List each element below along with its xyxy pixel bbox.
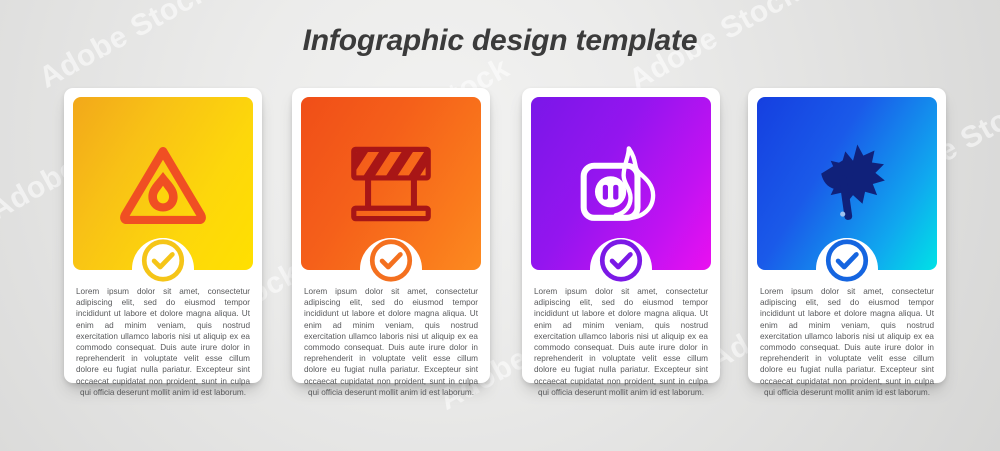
infographic-card[interactable]: Lorem ipsum dolor sit amet, consectetur … [292,88,490,383]
status-badge [825,238,870,283]
status-badge [599,238,644,283]
card-body-text: Lorem ipsum dolor sit amet, consectetur … [304,286,478,398]
page-title: Infographic design template [0,24,1000,58]
infographic-card[interactable]: Lorem ipsum dolor sit amet, consectetur … [748,88,946,383]
status-badge [369,238,414,283]
infographic-card[interactable]: Lorem ipsum dolor sit amet, consectetur … [522,88,720,383]
card-body-text: Lorem ipsum dolor sit amet, consectetur … [76,286,250,398]
infographic-card[interactable]: Lorem ipsum dolor sit amet, consectetur … [64,88,262,383]
infographic-canvas: Adobe Stock Adobe Stock Adobe Stock Adob… [0,0,1000,451]
card-body-text: Lorem ipsum dolor sit amet, consectetur … [760,286,934,398]
status-badge [141,238,186,283]
card-body-text: Lorem ipsum dolor sit amet, consectetur … [534,286,708,398]
